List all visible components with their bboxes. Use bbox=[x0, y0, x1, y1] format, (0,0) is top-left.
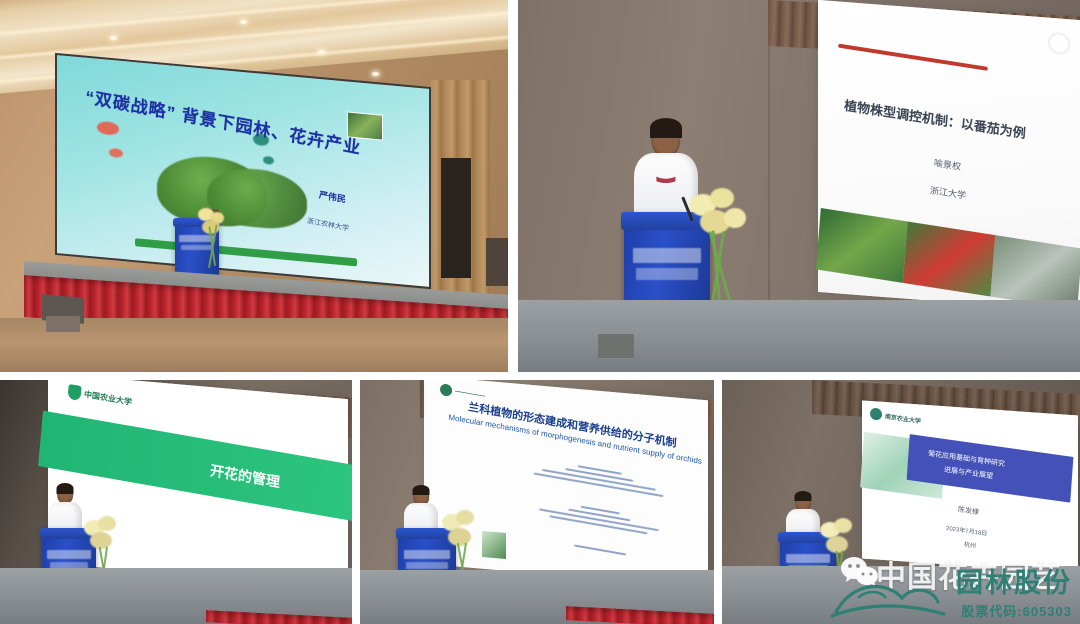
university-emblem-icon bbox=[440, 383, 453, 397]
slide-photo bbox=[903, 222, 995, 297]
speaker-hair bbox=[795, 491, 812, 501]
flower-blossom bbox=[834, 518, 852, 533]
flower-blossom bbox=[448, 528, 471, 546]
flower-blossom bbox=[724, 208, 746, 228]
door bbox=[441, 158, 471, 278]
speaker-hair bbox=[57, 483, 74, 494]
hall-floor bbox=[722, 566, 1080, 624]
flower-blossom bbox=[90, 532, 112, 549]
university-emblem-icon bbox=[870, 407, 883, 421]
photo-collage: “双碳战略” 背景下园林、花卉产业 严伟民 浙江农林大学 bbox=[0, 0, 1080, 624]
slide-side-image bbox=[482, 531, 506, 559]
flower-blossom bbox=[456, 510, 474, 525]
floor-block bbox=[598, 334, 634, 358]
panel-top-right: 植物株型调控机制：以番茄为例 喻景权 浙江大学 bbox=[518, 0, 1080, 372]
panel-bottom-middle: ————— 兰科植物的形态建成和营养供给的分子机制 Molecular mech… bbox=[360, 380, 714, 624]
projection-slide: 植物株型调控机制：以番茄为例 喻景权 浙江大学 bbox=[818, 0, 1080, 312]
panel-top-left: “双碳战略” 背景下园林、花卉产业 严伟民 浙江农林大学 bbox=[0, 0, 508, 372]
downlight-icon bbox=[240, 20, 247, 24]
slide-location: 杭州 bbox=[964, 539, 977, 550]
flower-blossom bbox=[98, 516, 116, 531]
panel-bottom-left: 中国农业大学 开花的管理 bbox=[0, 380, 352, 624]
downlight-icon bbox=[318, 50, 325, 54]
speaker-hair bbox=[413, 485, 430, 495]
downlight-icon bbox=[110, 36, 117, 40]
projection-slide: 南京农业大学 菊花应用基础与育种研究 进展与产业展望 陈发棣 2023年7月18… bbox=[862, 400, 1078, 573]
floor-equipment bbox=[46, 316, 80, 332]
downlight-icon bbox=[372, 72, 379, 76]
panel-bottom-right: 南京农业大学 菊花应用基础与育种研究 进展与产业展望 陈发棣 2023年7月18… bbox=[722, 380, 1080, 624]
led-screen: “双碳战略” 背景下园林、花卉产业 严伟民 浙江农林大学 bbox=[55, 53, 431, 289]
speaker-hair bbox=[650, 118, 682, 138]
speaker-lanyard bbox=[656, 157, 675, 194]
shield-icon bbox=[67, 384, 81, 401]
speaker-cabinet bbox=[486, 238, 508, 286]
slide-photo bbox=[816, 208, 908, 283]
flower-blossom bbox=[710, 188, 734, 208]
decor-bubble bbox=[263, 156, 274, 165]
